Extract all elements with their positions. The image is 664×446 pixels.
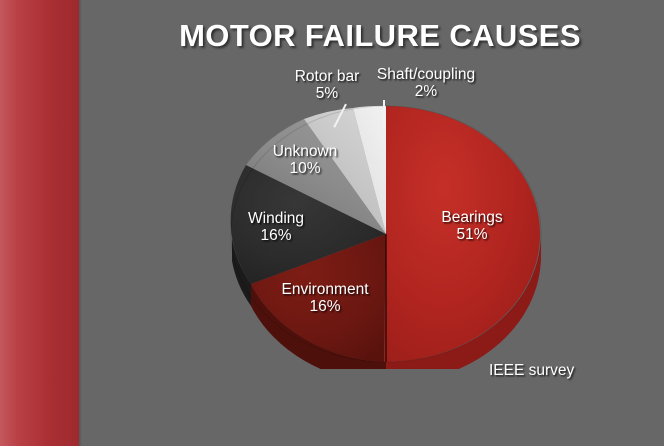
pie-label-rotor-bar-value: 5% (272, 85, 382, 102)
pie-label-shaft-coupling-value: 2% (356, 83, 496, 100)
pie-label-shaft-coupling-name: Shaft/coupling (377, 66, 475, 83)
accent-bar-shadow (79, 0, 82, 446)
pie-chart (228, 103, 544, 369)
pie-label-rotor-bar: Rotor bar 5% (272, 68, 382, 103)
accent-bar (0, 0, 79, 446)
pie-label-rotor-bar-name: Rotor bar (295, 68, 360, 85)
pie-chart-svg (228, 103, 544, 369)
slide-canvas: MOTOR FAILURE CAUSES (0, 0, 664, 446)
source-caption: IEEE survey (489, 362, 574, 380)
page-title: MOTOR FAILURE CAUSES (120, 18, 640, 54)
pie-label-shaft-coupling: Shaft/coupling 2% (356, 66, 496, 101)
